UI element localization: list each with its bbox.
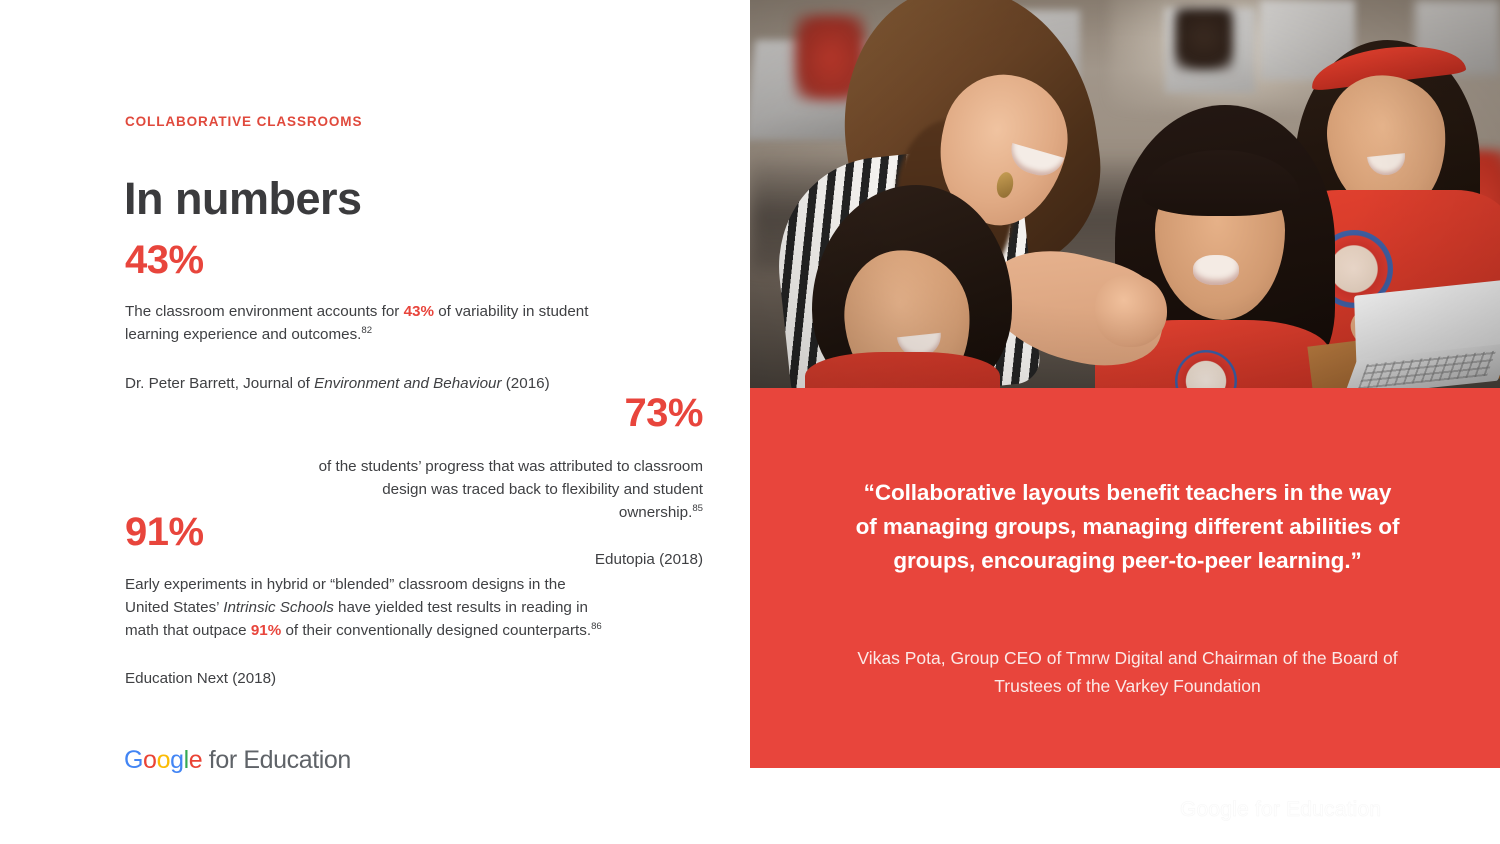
footnote-marker-85: 85 [692,503,703,514]
left-content-column: COLLABORATIVE CLASSROOMS In numbers 43% … [0,0,750,844]
page-title: In numbers [124,173,362,225]
stat-body-43: The classroom environment accounts for 4… [125,300,595,346]
logo-letter-e: e [189,746,203,774]
logo-letter-o2: o [157,746,171,774]
right-media-column: “Collaborative layouts benefit teachers … [750,0,1500,844]
stat-source-43: Dr. Peter Barrett, Journal of Environmen… [125,372,595,395]
stat-source-43-journal: Environment and Behaviour [314,375,501,392]
stat-source-43-after: (2016) [502,375,550,392]
photo-vignette [750,0,1500,388]
logo-letter-g2: g [170,746,184,774]
stat-figure-73: 73% [300,393,703,433]
google-for-education-watermark: Google for Education [1180,798,1381,822]
stat-source-43-before: Dr. Peter Barrett, Journal of [125,375,314,392]
logo-letter-g1: G [124,746,143,774]
section-eyebrow-label: COLLABORATIVE CLASSROOMS [125,114,362,129]
stat-figure-91: 91% [125,512,605,552]
quote-panel: “Collaborative layouts benefit teachers … [750,388,1500,768]
footnote-marker-86: 86 [591,621,602,632]
logo-letter-o1: o [143,746,157,774]
stat-body-91-text-after: of their conventionally designed counter… [281,622,591,639]
quote-text: “Collaborative layouts benefit teachers … [855,476,1400,578]
stat-body-91-highlight: 91% [251,622,281,639]
stat-source-91: Education Next (2018) [125,667,605,690]
stat-body-91: Early experiments in hybrid or “blended”… [125,573,605,642]
stat-body-43-highlight: 43% [404,303,434,320]
classroom-photo [750,0,1500,388]
stat-block-91: 91% Early experiments in hybrid or “blen… [125,512,605,705]
footnote-marker-82: 82 [361,325,372,336]
google-wordmark: Google [124,746,202,774]
google-for-education-logo: Google for Education [124,748,351,773]
slide-root: COLLABORATIVE CLASSROOMS In numbers 43% … [0,0,1500,844]
quote-attribution: Vikas Pota, Group CEO of Tmrw Digital an… [840,644,1415,700]
stat-block-43: 43% The classroom environment accounts f… [125,240,595,410]
stat-body-91-italic: Intrinsic Schools [223,599,334,616]
stat-figure-43: 43% [125,240,595,280]
stat-body-43-text-before: The classroom environment accounts for [125,303,404,320]
logo-suffix-for-education: for Education [202,746,351,774]
